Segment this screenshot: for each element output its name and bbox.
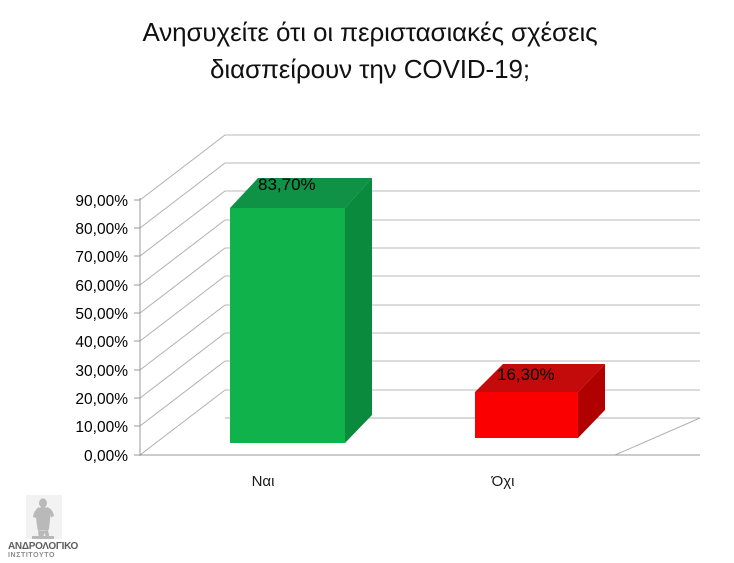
chart-plot-area: 90,00% 80,00% 70,00% 60,00% 50,00% 40,00… — [0, 0, 734, 563]
x-category-label-ochi: Όχι — [491, 473, 515, 490]
x-axis-category-labels: Ναι Όχι — [252, 473, 515, 490]
logo-text-line-1: ΑΝΔΡΟΛΟΓΙΚΟ — [8, 541, 79, 552]
y-tick-label: 50,00% — [75, 306, 128, 323]
bar-group-nai[interactable] — [230, 178, 372, 443]
y-tick-label: 0,00% — [84, 448, 128, 465]
y-tick-label: 10,00% — [75, 419, 128, 436]
bar-value-label-nai: 83,70% — [258, 175, 316, 194]
y-tick-label: 80,00% — [75, 221, 128, 238]
y-tick-label: 30,00% — [75, 363, 128, 380]
gridlines-depth — [140, 135, 225, 455]
logo-text-line-2: ΙΝΣΤΙΤΟΥΤΟ — [8, 552, 55, 559]
bar-front-face-ochi — [475, 392, 578, 438]
bar-side-face-nai — [345, 178, 372, 443]
y-tick-label: 40,00% — [75, 334, 128, 351]
bar-front-face-nai — [230, 208, 345, 443]
y-tick-label: 20,00% — [75, 391, 128, 408]
chart-floor — [140, 418, 700, 455]
y-tick-label: 60,00% — [75, 278, 128, 295]
chart-page: Ανησυχείτε ότι οι περιστασιακές σχέσεις … — [0, 0, 734, 563]
x-category-label-nai: Ναι — [252, 473, 275, 490]
logo: ΑΝΔΡΟΛΟΓΙΚΟ ΙΝΣΤΙΤΟΥΤΟ — [6, 495, 102, 559]
y-axis — [134, 198, 140, 456]
bar-value-label-ochi: 16,30% — [497, 365, 555, 384]
y-tick-label: 90,00% — [75, 193, 128, 210]
y-axis-tick-labels: 90,00% 80,00% 70,00% 60,00% 50,00% 40,00… — [75, 193, 128, 465]
y-tick-label: 70,00% — [75, 249, 128, 266]
